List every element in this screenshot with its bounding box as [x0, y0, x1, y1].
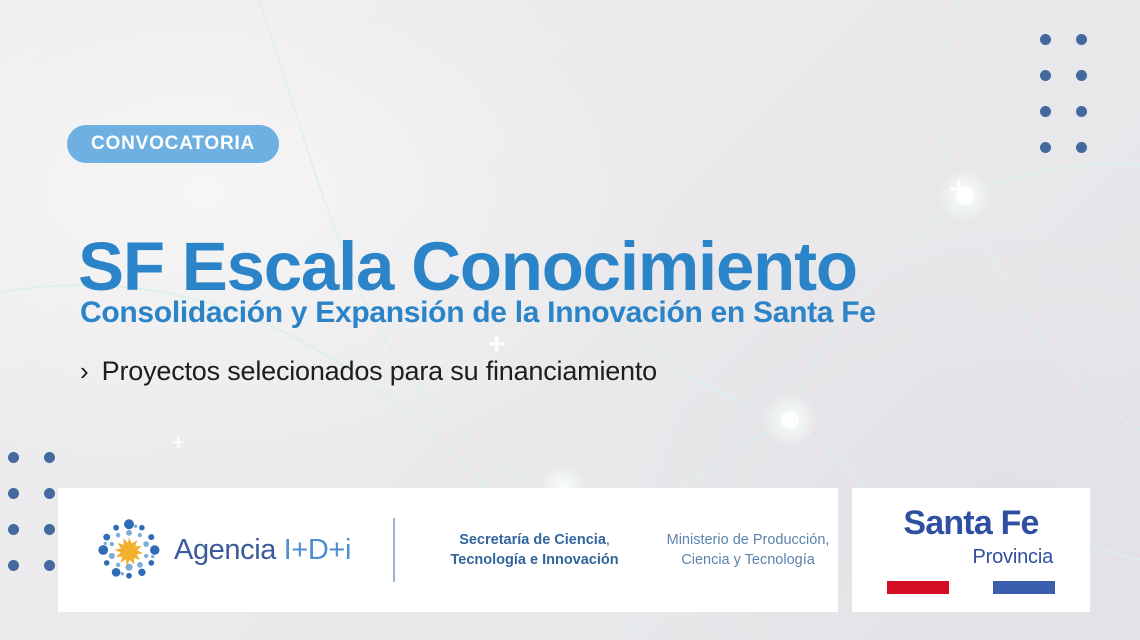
decor-dot: [1076, 34, 1087, 45]
ministerio-text: Ministerio de Producción, Ciencia y Tecn…: [667, 530, 830, 570]
decor-dot: [8, 488, 19, 499]
flag-bar-blue: [993, 581, 1055, 594]
decor-dot: [44, 560, 55, 571]
santa-fe-title: Santa Fe: [903, 506, 1038, 540]
logo-card-santa-fe: Santa Fe Provincia: [852, 488, 1090, 612]
secretaria-line2: Tecnología e Innovación: [451, 552, 619, 568]
ministerio-line2: Ciencia y Tecnología: [681, 552, 815, 568]
agencia-word-secondary: I+D+i: [284, 534, 351, 566]
plus-mark-icon: +: [949, 172, 969, 206]
decor-dot: [44, 488, 55, 499]
poster-canvas: + + + CONVOCATORIA SF Escala Conocimie: [0, 0, 1140, 640]
flag-bar-red: [887, 581, 949, 594]
decor-dot: [1040, 34, 1051, 45]
decor-dot: [1076, 70, 1087, 81]
bullet-label: Proyectos selecionados para su financiam…: [102, 358, 657, 385]
chevron-right-icon: ›: [80, 358, 89, 384]
status-badge: CONVOCATORIA: [67, 125, 279, 163]
agencia-sunburst-icon: [96, 517, 162, 583]
decor-dot: [44, 452, 55, 463]
dot-grid-top-right: [1040, 34, 1112, 178]
agencia-word-primary: Agencia: [174, 534, 284, 566]
decor-dot: [44, 524, 55, 535]
decor-dot: [8, 452, 19, 463]
ministerio-line1: Ministerio de Producción,: [667, 532, 830, 548]
page-subtitle: Consolidación y Expansión de la Innovaci…: [80, 298, 876, 328]
agencia-logo: Agencia I+D+i: [96, 517, 351, 583]
decor-dot: [1040, 106, 1051, 117]
decor-dot: [1076, 106, 1087, 117]
logo-divider: [393, 518, 395, 582]
decor-dot: [1040, 142, 1051, 153]
secretaria-line1-comma: ,: [606, 532, 610, 548]
ministry-block: Secretaría de Ciencia, Tecnología e Inno…: [451, 530, 830, 570]
secretaria-line1: Secretaría de Ciencia: [459, 532, 606, 548]
santa-fe-logo: Santa Fe Provincia: [887, 506, 1055, 594]
plus-mark-icon: +: [172, 432, 185, 454]
logo-card-institutions: Agencia I+D+i Secretaría de Ciencia, Tec…: [58, 488, 838, 612]
santa-fe-subtitle: Provincia: [973, 547, 1053, 567]
secretaria-text: Secretaría de Ciencia, Tecnología e Inno…: [451, 530, 619, 570]
decor-dot: [1040, 70, 1051, 81]
badge-label: CONVOCATORIA: [91, 133, 255, 155]
decor-dot: [1076, 142, 1087, 153]
santa-fe-flag-bars: [887, 581, 1055, 594]
bullet-line: › Proyectos selecionados para su financi…: [80, 358, 657, 385]
agencia-wordmark: Agencia I+D+i: [174, 534, 351, 567]
decor-dot: [8, 524, 19, 535]
decor-dot: [8, 560, 19, 571]
page-title: SF Escala Conocimiento: [78, 232, 857, 301]
